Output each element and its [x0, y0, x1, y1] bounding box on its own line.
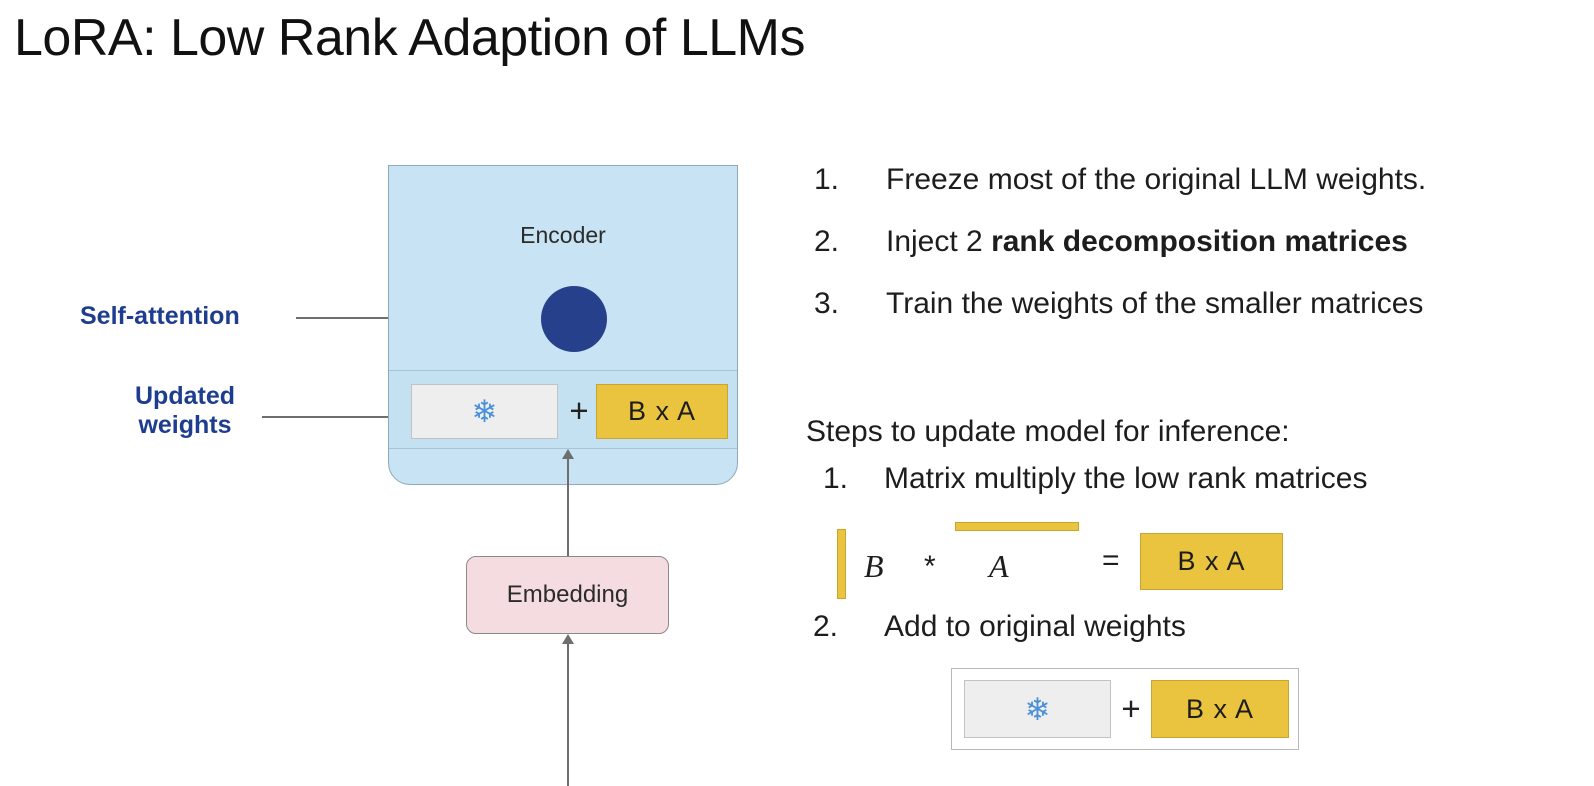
page-title: LoRA: Low Rank Adaption of LLMs [14, 8, 805, 68]
connector-input-to-embedding [567, 641, 569, 786]
inference-marker-1: 1. [823, 462, 848, 496]
final-frozen-weights-box: ❄ [964, 680, 1111, 738]
step-text-2-bold: rank decomposition matrices [991, 225, 1408, 258]
connector-arrow-to-encoder [562, 449, 574, 459]
annotation-self-attention: Self-attention [80, 302, 240, 331]
inference-text-2: Add to original weights [884, 610, 1186, 644]
slide-canvas: LoRA: Low Rank Adaption of LLMs Self-att… [0, 0, 1594, 786]
plus-operator: + [565, 385, 593, 437]
ba-matrix-box: B x A [596, 384, 728, 439]
final-ba-matrix-box: B x A [1151, 680, 1289, 738]
step-text-3: Train the weights of the smaller matrice… [886, 287, 1423, 321]
multiply-operator: * [924, 550, 936, 584]
matrix-b-bar [837, 529, 846, 599]
matrix-a-letter: A [989, 548, 1009, 585]
frozen-weights-box: ❄ [411, 384, 558, 439]
encoder-label: Encoder [389, 222, 737, 249]
updated-weights-result-group: ❄ + B x A [951, 668, 1299, 750]
step-marker-3: 3. [814, 287, 839, 321]
step-text-1: Freeze most of the original LLM weights. [886, 163, 1426, 197]
equals-operator: = [1102, 544, 1120, 578]
equation-result-ba-box: B x A [1140, 533, 1283, 590]
leader-line-updated-weights [262, 416, 396, 418]
annotation-updated-weights: Updated weights [120, 382, 250, 440]
annotation-updated-weights-line2: weights [120, 411, 250, 440]
annotation-updated-weights-line1: Updated [120, 382, 250, 411]
matrix-a-bar [955, 522, 1079, 531]
step-text-2-plain: Inject 2 [886, 225, 991, 258]
step-marker-1: 1. [814, 163, 839, 197]
self-attention-node [541, 286, 607, 352]
final-plus-operator: + [1115, 681, 1147, 737]
snowflake-icon: ❄ [1025, 694, 1051, 725]
step-text-2: Inject 2 rank decomposition matrices [886, 225, 1408, 259]
snowflake-icon: ❄ [472, 396, 498, 427]
encoder-block: Encoder ❄ + B x A [388, 165, 738, 485]
matrix-b-letter: B [864, 548, 884, 585]
connector-embedding-to-encoder [567, 456, 569, 556]
step-marker-2: 2. [814, 225, 839, 259]
embedding-block: Embedding [466, 556, 669, 634]
matrix-multiply-equation: B * A = B x A [806, 512, 1326, 604]
inference-text-1: Matrix multiply the low rank matrices [884, 462, 1367, 496]
inference-marker-2: 2. [813, 610, 838, 644]
connector-arrow-to-embedding [562, 634, 574, 644]
updated-weights-band: ❄ + B x A [389, 370, 737, 449]
inference-heading: Steps to update model for inference: [806, 415, 1290, 449]
